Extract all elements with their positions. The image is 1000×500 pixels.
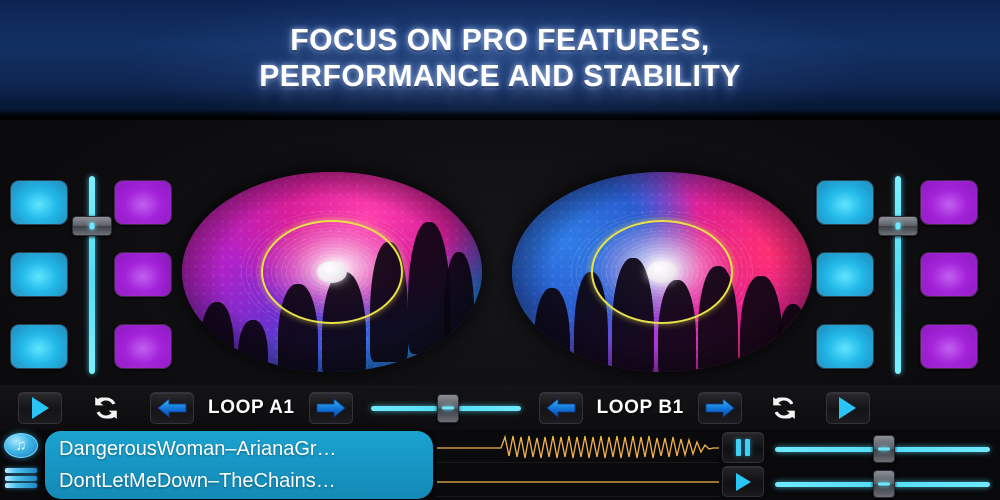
- right-pad-cue-2[interactable]: [816, 252, 874, 297]
- deck-b-volume-slider[interactable]: [775, 469, 990, 499]
- play-icon: [736, 473, 751, 491]
- right-vertical-fader-track[interactable]: [895, 176, 901, 374]
- library-icons: ♫: [4, 433, 44, 490]
- right-pad-bank: [808, 180, 998, 370]
- list-item[interactable]: DangerousWoman–ArianaGr…: [59, 433, 419, 465]
- dj-app-screenshot: FOCUS ON PRO FEATURES, PERFORMANCE AND S…: [0, 0, 1000, 500]
- sync-loop-icon: [89, 393, 123, 423]
- left-pad-fx-1[interactable]: [114, 180, 172, 225]
- crossfader[interactable]: [371, 392, 521, 424]
- right-loop-next-button[interactable]: [698, 392, 742, 424]
- right-pad-fx-2[interactable]: [920, 252, 978, 297]
- play-icon: [839, 397, 856, 419]
- right-turntable-disc[interactable]: [512, 172, 812, 372]
- right-loop-label: LOOP B1: [597, 397, 684, 419]
- right-deck-sync-button[interactable]: [762, 392, 806, 424]
- crossfader-knob[interactable]: [437, 394, 459, 423]
- right-pad-fx-1[interactable]: [920, 180, 978, 225]
- left-pad-cue-1[interactable]: [10, 180, 68, 225]
- playlist-panel: DangerousWoman–ArianaGr… DontLetMeDown–T…: [45, 431, 433, 499]
- play-button[interactable]: [722, 466, 764, 497]
- right-deck-play-button[interactable]: [826, 392, 870, 424]
- left-vertical-fader-track[interactable]: [89, 176, 95, 374]
- playlist-stack-icon[interactable]: [4, 466, 38, 490]
- pause-button[interactable]: [722, 432, 764, 463]
- left-deck-play-button[interactable]: [18, 392, 62, 424]
- left-disc-vignette: [182, 172, 482, 372]
- right-vertical-fader-knob[interactable]: [878, 216, 918, 236]
- left-pad-fx-2[interactable]: [114, 252, 172, 297]
- play-icon: [32, 397, 49, 419]
- right-pad-cue-3[interactable]: [816, 324, 874, 369]
- arrow-left-icon: [545, 398, 577, 418]
- music-note-icon[interactable]: ♫: [4, 433, 38, 458]
- playback-buttons: [722, 432, 766, 497]
- banner-headline-line2: PERFORMANCE AND STABILITY: [15, 58, 985, 94]
- sync-loop-icon: [767, 393, 801, 423]
- arrow-right-icon: [704, 398, 736, 418]
- right-disc-vignette: [512, 172, 812, 372]
- deck-area: [0, 120, 1000, 385]
- left-loop-next-button[interactable]: [309, 392, 353, 424]
- left-pad-cue-3[interactable]: [10, 324, 68, 369]
- left-pad-fx-3[interactable]: [114, 324, 172, 369]
- loop-transport-bar: LOOP A1 LOOP B1: [0, 385, 1000, 430]
- right-pad-fx-3[interactable]: [920, 324, 978, 369]
- promo-banner: FOCUS ON PRO FEATURES, PERFORMANCE AND S…: [0, 0, 1000, 120]
- deck-a-volume-slider[interactable]: [775, 434, 990, 464]
- pause-icon: [736, 439, 750, 456]
- right-pad-cue-1[interactable]: [816, 180, 874, 225]
- left-turntable-disc[interactable]: [182, 172, 482, 372]
- left-deck-sync-button[interactable]: [84, 392, 128, 424]
- left-vertical-fader-knob[interactable]: [72, 216, 112, 236]
- waveform-column: [437, 432, 719, 498]
- banner-headline-line1: FOCUS ON PRO FEATURES,: [15, 22, 985, 58]
- left-loop-prev-button[interactable]: [150, 392, 194, 424]
- list-item[interactable]: DontLetMeDown–TheChains…: [59, 465, 419, 497]
- banner-headline: FOCUS ON PRO FEATURES, PERFORMANCE AND S…: [15, 22, 985, 94]
- deck-b-waveform[interactable]: [437, 466, 719, 497]
- left-pad-cue-2[interactable]: [10, 252, 68, 297]
- waveform-a-trace: [437, 432, 719, 463]
- arrow-right-icon: [315, 398, 347, 418]
- left-loop-label: LOOP A1: [208, 397, 295, 419]
- left-pad-bank: [2, 180, 192, 370]
- arrow-left-icon: [156, 398, 188, 418]
- deck-a-volume-knob[interactable]: [873, 435, 895, 463]
- deck-b-volume-knob[interactable]: [873, 470, 895, 498]
- right-loop-prev-button[interactable]: [539, 392, 583, 424]
- bottom-bar: ♫ DangerousWoman–ArianaGr… DontLetMeDown…: [0, 430, 1000, 500]
- volume-sliders: [775, 434, 990, 499]
- deck-a-waveform[interactable]: [437, 432, 719, 463]
- waveform-b-trace: [437, 466, 719, 497]
